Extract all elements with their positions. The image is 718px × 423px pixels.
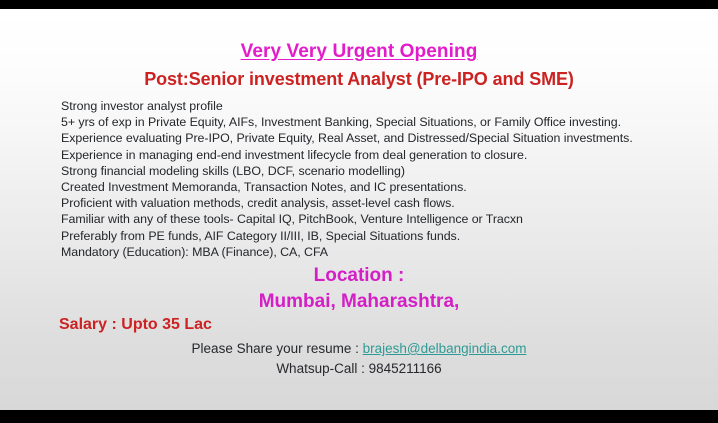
whatsapp-contact-line: Whatsup-Call : 9845211166 — [0, 361, 718, 376]
salary-text: Salary : Upto 35 Lac — [59, 316, 212, 334]
job-posting-page: Very Very Urgent Opening Post:Senior inv… — [0, 9, 718, 410]
resume-prefix-label: Please Share your resume : — [192, 341, 363, 356]
screenshot-viewport: Very Very Urgent Opening Post:Senior inv… — [0, 0, 718, 423]
letterbox-bar-bottom — [0, 410, 718, 423]
list-item: Preferably from PE funds, AIF Category I… — [61, 228, 661, 244]
location-label: Location : — [0, 265, 718, 287]
page-title: Very Very Urgent Opening — [0, 41, 718, 63]
location-value: Mumbai, Maharashtra, — [0, 291, 718, 313]
list-item: Created Investment Memoranda, Transactio… — [61, 179, 661, 195]
resume-contact-line: Please Share your resume : brajesh@delba… — [0, 341, 718, 356]
list-item: Mandatory (Education): MBA (Finance), CA… — [61, 244, 661, 260]
job-position-title: Post:Senior investment Analyst (Pre-IPO … — [0, 69, 718, 90]
requirements-list: Strong investor analyst profile 5+ yrs o… — [61, 98, 661, 260]
list-item: Strong investor analyst profile — [61, 98, 661, 114]
email-link[interactable]: brajesh@delbangindia.com — [363, 341, 527, 356]
letterbox-bar-top — [0, 0, 718, 9]
list-item: Strong financial modeling skills (LBO, D… — [61, 163, 661, 179]
list-item: 5+ yrs of exp in Private Equity, AIFs, I… — [61, 114, 661, 130]
list-item: Proficient with valuation methods, credi… — [61, 195, 661, 211]
list-item: Experience evaluating Pre-IPO, Private E… — [61, 130, 661, 146]
list-item: Familiar with any of these tools- Capita… — [61, 211, 661, 227]
list-item: Experience in managing end-end investmen… — [61, 147, 661, 163]
